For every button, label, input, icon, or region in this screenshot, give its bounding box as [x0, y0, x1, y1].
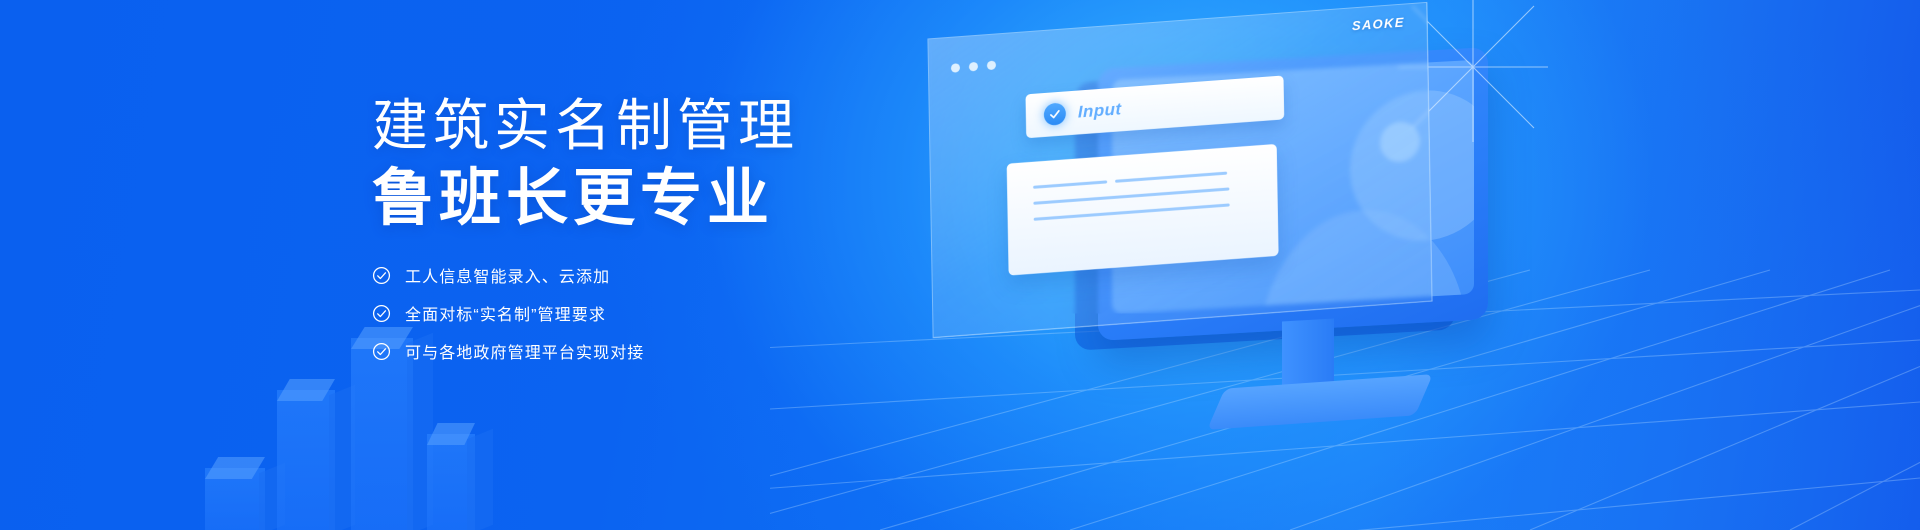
- window-dots: [951, 60, 996, 72]
- bar-side: [467, 429, 493, 530]
- content-line: [1033, 180, 1107, 188]
- input-card[interactable]: Input: [1026, 75, 1285, 138]
- content-line: [1033, 187, 1229, 204]
- window-dot-1: [951, 63, 960, 73]
- content-line-row: [1033, 169, 1255, 188]
- monitor-stand-base: [1207, 374, 1433, 430]
- headline-line-2: 鲁班长更专业: [372, 166, 892, 233]
- feature-label: 全面对标“实名制”管理要求: [405, 301, 606, 325]
- feature-item-3: 可与各地政府管理平台实现对接: [372, 339, 892, 363]
- window-dot-2: [969, 62, 978, 72]
- glass-ui-panel: SAOKE Input: [927, 2, 1432, 338]
- headline-line-1: 建筑实名制管理: [372, 96, 892, 156]
- content-card: [1007, 144, 1279, 276]
- building-bar-4: [427, 434, 475, 530]
- input-card-label: Input: [1078, 99, 1122, 122]
- feature-label: 可与各地政府管理平台实现对接: [405, 339, 644, 363]
- check-circle-icon: [372, 304, 391, 323]
- monitor-illustration: SAOKE Input: [1020, 0, 1580, 530]
- building-bar-2: [277, 390, 335, 530]
- content-line: [1115, 172, 1227, 183]
- bar-face: [277, 390, 335, 530]
- feature-item-2: 全面对标“实名制”管理要求: [372, 301, 892, 325]
- promo-banner: SAOKE Input 建筑实名制管理 鲁班长更专业: [0, 0, 1920, 530]
- building-bar-1: [205, 468, 265, 530]
- check-circle-filled-icon: [1044, 102, 1066, 126]
- content-line: [1034, 203, 1230, 220]
- check-circle-icon: [372, 342, 391, 361]
- window-dot-3: [987, 60, 996, 70]
- feature-label: 工人信息智能录入、云添加: [405, 263, 610, 287]
- check-circle-icon: [372, 266, 391, 285]
- feature-list: 工人信息智能录入、云添加 全面对标“实名制”管理要求: [372, 263, 892, 363]
- feature-item-1: 工人信息智能录入、云添加: [372, 263, 892, 287]
- brand-tag: SAOKE: [1352, 15, 1405, 34]
- banner-copy: 建筑实名制管理 鲁班长更专业 工人信息智能录入、云添加: [372, 96, 892, 377]
